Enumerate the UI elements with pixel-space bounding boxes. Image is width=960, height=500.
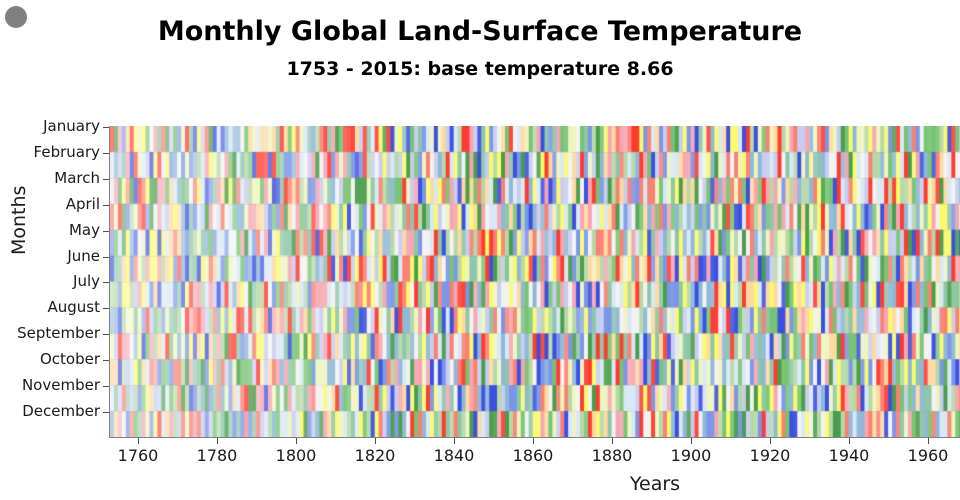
x-axis-tick-mark [533,438,534,444]
y-axis-tick-mark [103,282,109,283]
x-axis-tick-mark [217,438,218,444]
x-axis-tick-mark [849,438,850,444]
x-axis-tick-label-1840: 1840 [434,448,475,464]
x-axis-tick-mark [454,438,455,444]
y-axis-tick-label-july: July [73,274,100,289]
y-axis-tick-mark [103,153,109,154]
y-axis-tick-label-november: November [22,378,100,393]
y-axis-tick-label-may: May [69,223,100,238]
y-axis-tick-label-april: April [66,197,100,212]
y-axis-tick-mark [103,308,109,309]
y-axis-tick-mark [103,386,109,387]
y-axis-tick-mark [103,231,109,232]
y-axis-tick-label-october: October [40,352,100,367]
x-axis-tick-label-1780: 1780 [197,448,238,464]
y-axis-tick-label-june: June [67,249,100,264]
heatmap-canvas[interactable] [110,126,960,437]
y-axis-tick-mark [103,360,109,361]
x-axis-tick-label-1760: 1760 [118,448,159,464]
x-axis-tick-mark [296,438,297,444]
y-axis-tick-mark [103,412,109,413]
x-axis-tick-mark [928,438,929,444]
x-axis-tick-label-1900: 1900 [671,448,712,464]
y-axis-tick-label-january: January [43,119,100,134]
x-axis-tick-label-1860: 1860 [513,448,554,464]
page-title: Monthly Global Land-Surface Temperature [0,16,960,47]
y-axis-tick-mark [103,205,109,206]
x-axis-line [109,437,960,438]
y-axis-tick-mark [103,127,109,128]
x-axis-tick-label-1960: 1960 [908,448,949,464]
x-axis-tick-label-1880: 1880 [592,448,633,464]
x-axis-tick-mark [612,438,613,444]
y-axis-tick-mark [103,257,109,258]
y-axis-title: Months [8,186,30,255]
x-axis-tick-label-1800: 1800 [276,448,317,464]
y-axis-tick-label-august: August [48,300,101,315]
x-axis-tick-mark [138,438,139,444]
x-axis-tick-label-1820: 1820 [355,448,396,464]
x-axis-tick-label-1920: 1920 [750,448,791,464]
y-axis-tick-mark [103,179,109,180]
y-axis-tick-label-september: September [17,326,100,341]
y-axis-tick-mark [103,334,109,335]
x-axis-tick-mark [691,438,692,444]
y-axis-tick-label-march: March [54,171,100,186]
x-axis-tick-mark [375,438,376,444]
y-axis-tick-label-february: February [34,145,100,160]
x-axis-tick-label-1940: 1940 [829,448,870,464]
heatmap-plot[interactable] [110,126,960,437]
x-axis-tick-mark [770,438,771,444]
x-axis-title: Years [630,473,680,495]
page-subtitle: 1753 - 2015: base temperature 8.66 [0,58,960,80]
y-axis-tick-label-december: December [22,404,100,419]
y-axis-line [109,126,110,438]
